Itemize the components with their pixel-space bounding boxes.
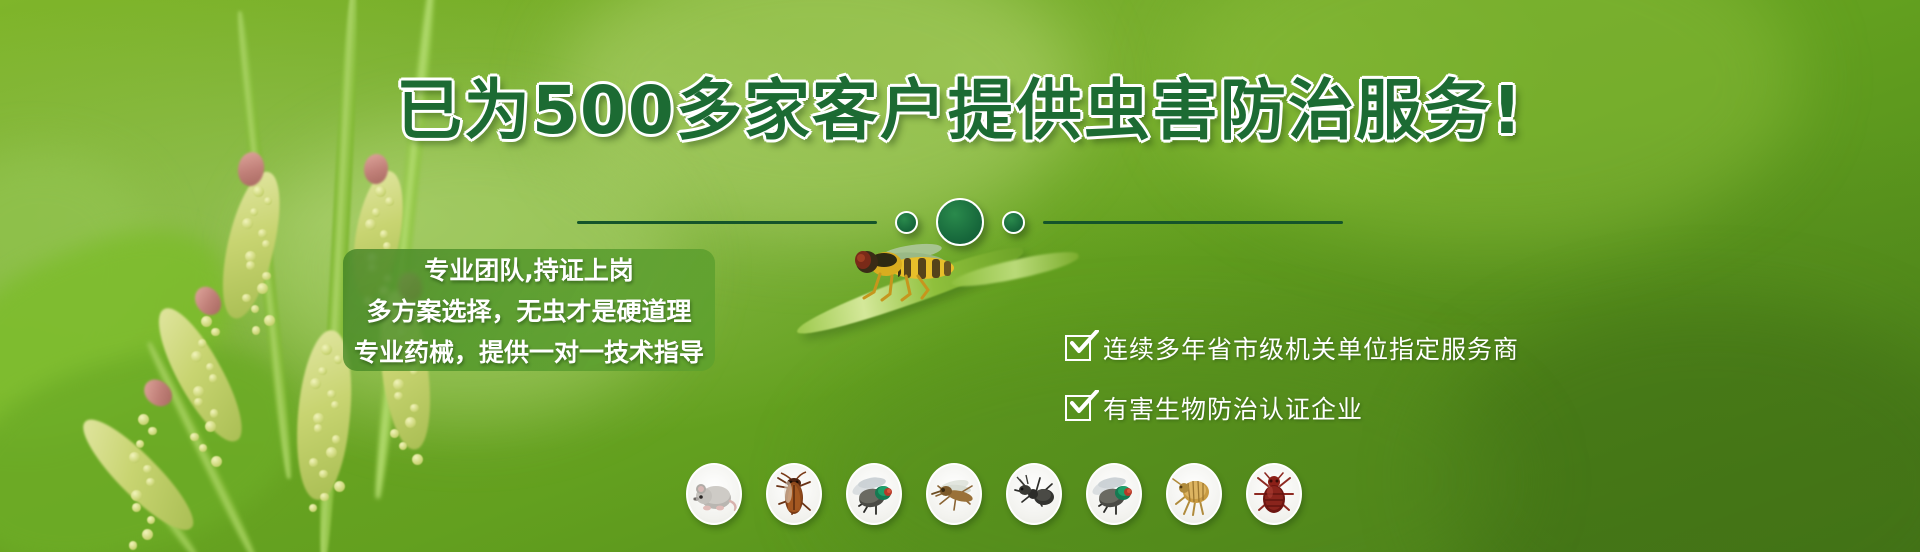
divider-line-right — [1043, 221, 1343, 224]
credentials-checklist: 连续多年省市级机关单位指定服务商 有害生物防治认证企业 — [1065, 330, 1519, 426]
ant-icon[interactable] — [1006, 463, 1062, 525]
flea-icon[interactable] — [1166, 463, 1222, 525]
decor-dot-small-left — [895, 211, 918, 234]
highlight-line-3: 专业药械，提供一对一技术指导 — [354, 333, 704, 369]
decor-dot-small-right — [1002, 211, 1025, 234]
highlight-line-1: 专业团队,持证上岗 — [424, 251, 634, 287]
check-mark-icon — [1069, 330, 1099, 356]
blowfly-icon[interactable] — [1086, 463, 1142, 525]
page-title-text: 已为500多家客户提供虫害防治服务! — [396, 72, 1524, 149]
bedbug-icon[interactable] — [1246, 463, 1302, 525]
checklist-item: 有害生物防治认证企业 — [1065, 390, 1519, 426]
rat-icon[interactable] — [686, 463, 742, 525]
cockroach-icon[interactable] — [766, 463, 822, 525]
checkbox-check-icon — [1065, 395, 1091, 421]
checklist-item: 连续多年省市级机关单位指定服务商 — [1065, 330, 1519, 366]
pest-control-promo-banner: 已为500多家客户提供虫害防治服务! — [0, 0, 1920, 552]
checklist-item-label: 有害生物防治认证企业 — [1103, 390, 1363, 426]
hoverfly-icon — [840, 240, 970, 310]
checkbox-check-icon — [1065, 335, 1091, 361]
mosquito-icon[interactable] — [926, 463, 982, 525]
highlights-panel-text: 专业团队,持证上岗 多方案选择，无虫才是硬道理 专业药械，提供一对一技术指导 — [343, 249, 715, 371]
pest-type-icon-row — [686, 463, 1302, 525]
decorative-divider-row — [0, 198, 1920, 246]
fly-icon[interactable] — [846, 463, 902, 525]
checklist-item-label: 连续多年省市级机关单位指定服务商 — [1103, 330, 1519, 366]
divider-line-left — [577, 221, 877, 224]
decor-dot-large — [936, 198, 984, 246]
highlight-line-2: 多方案选择，无虫才是硬道理 — [366, 292, 691, 328]
page-title: 已为500多家客户提供虫害防治服务! — [0, 78, 1920, 144]
check-mark-icon — [1069, 390, 1099, 416]
